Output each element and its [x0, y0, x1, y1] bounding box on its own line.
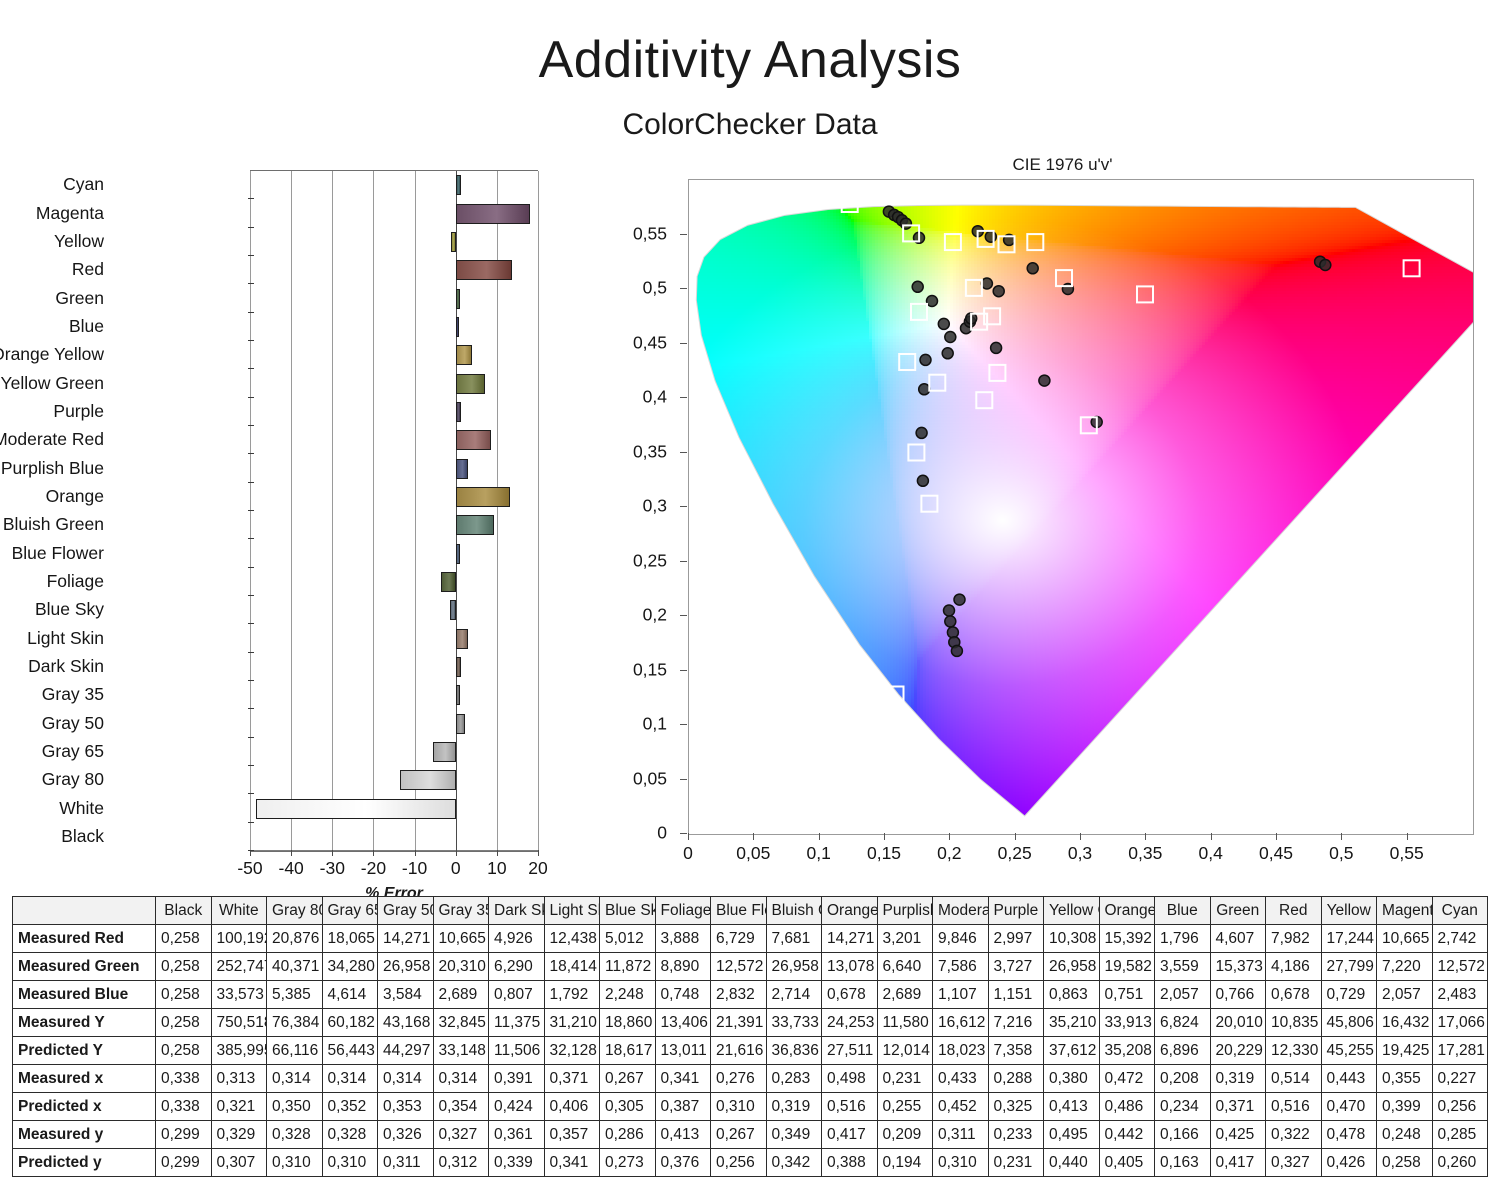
cie-x-tick — [753, 833, 754, 840]
bar-chart-category-label: Yellow — [0, 232, 104, 250]
bar-chart-category-label: White — [0, 799, 104, 817]
bar-chart-bar — [456, 685, 461, 705]
table-cell: 4,186 — [1266, 953, 1322, 981]
table-body: Measured Red0,258100,19220,87618,06514,2… — [13, 925, 1488, 1177]
table-cell: 0,443 — [1321, 1065, 1377, 1093]
table-cell: 7,681 — [766, 925, 822, 953]
table-cell: 4,614 — [322, 981, 378, 1009]
table-column-header: Blue — [1155, 897, 1211, 925]
table-cell: 21,616 — [711, 1037, 767, 1065]
bar-chart-y-tick — [248, 567, 254, 568]
table-cell: 0,341 — [544, 1149, 600, 1177]
table-cell: 0,209 — [877, 1121, 933, 1149]
bar-chart-category-label: Black — [0, 827, 104, 845]
cie-y-tick — [680, 343, 687, 344]
table-cell: 0,322 — [1266, 1121, 1322, 1149]
cie-measured-point — [954, 594, 965, 605]
table-cell: 0,514 — [1266, 1065, 1322, 1093]
table-cell: 43,168 — [378, 1009, 434, 1037]
table-header: BlackWhiteGray 80Gray 65Gray 50Gray 35Da… — [13, 897, 1488, 925]
table-cell: 18,860 — [600, 1009, 656, 1037]
table-cell: 20,876 — [267, 925, 323, 953]
table-cell: 0,233 — [988, 1121, 1044, 1149]
table-row: Measured Red0,258100,19220,87618,06514,2… — [13, 925, 1488, 953]
bar-chart-category-label: Orange Yellow — [0, 345, 104, 363]
table-cell: 0,258 — [156, 1037, 212, 1065]
cie-x-tick — [1080, 833, 1081, 840]
table-cell: 2,689 — [433, 981, 489, 1009]
table-cell: 11,375 — [489, 1009, 545, 1037]
cie-y-tick — [680, 561, 687, 562]
bar-chart-category-label: Purplish Blue — [0, 459, 104, 477]
table-cell: 11,580 — [877, 1009, 933, 1037]
table-cell: 0,256 — [711, 1149, 767, 1177]
bar-chart-category-label: Orange — [0, 487, 104, 505]
table-cell: 2,689 — [877, 981, 933, 1009]
bar-chart-bar — [456, 459, 468, 479]
table-cell: 0,516 — [822, 1093, 878, 1121]
bar-chart-bar — [456, 515, 494, 535]
table-cell: 0,314 — [433, 1065, 489, 1093]
table-cell: 4,607 — [1210, 925, 1266, 953]
table-cell: 16,612 — [933, 1009, 989, 1037]
bar-chart-bar — [441, 572, 455, 592]
table-corner-cell — [13, 897, 156, 925]
table-cell: 0,312 — [433, 1149, 489, 1177]
bar-chart-y-tick — [248, 368, 254, 369]
table-cell: 0,417 — [822, 1121, 878, 1149]
bar-chart-x-tick-label: -50 — [237, 858, 262, 879]
bar-chart-bar — [456, 260, 512, 280]
table-cell: 26,958 — [766, 953, 822, 981]
cie-measured-point — [991, 342, 1002, 353]
table-cell: 0,478 — [1321, 1121, 1377, 1149]
table-cell: 0,413 — [1044, 1093, 1100, 1121]
table-cell: 100,192 — [211, 925, 267, 953]
table-cell: 0,498 — [822, 1065, 878, 1093]
bar-chart-bar — [456, 374, 486, 394]
table-column-header: Gray 65 — [322, 897, 378, 925]
bar-chart-category-label: Gray 50 — [0, 714, 104, 732]
bar-chart-category-label: Dark Skin — [0, 657, 104, 675]
table-cell: 18,617 — [600, 1037, 656, 1065]
table-cell: 31,210 — [544, 1009, 600, 1037]
table-cell: 3,888 — [655, 925, 711, 953]
table-column-header: Bluish Gre — [766, 897, 822, 925]
bar-chart-panel: % Error CyanMagentaYellowRedGreenBlueOra… — [18, 160, 638, 890]
table-cell: 12,572 — [711, 953, 767, 981]
bar-chart-bar — [451, 232, 456, 252]
cie-y-tick-label: 0 — [657, 823, 667, 844]
table-cell: 45,806 — [1321, 1009, 1377, 1037]
cie-x-tick — [819, 833, 820, 840]
table-cell: 8,890 — [655, 953, 711, 981]
bar-chart-bar — [456, 714, 465, 734]
table-row: Predicted x0,3380,3210,3500,3520,3530,35… — [13, 1093, 1488, 1121]
bar-chart-gridline — [373, 171, 374, 851]
table-cell: 34,280 — [322, 953, 378, 981]
bar-chart-category-label: Gray 80 — [0, 770, 104, 788]
table-cell: 76,384 — [267, 1009, 323, 1037]
bar-chart-x-tick-label: -20 — [361, 858, 386, 879]
bar-chart-category-label: Foliage — [0, 572, 104, 590]
cie-y-tick — [680, 506, 687, 507]
table-cell: 0,349 — [766, 1121, 822, 1149]
bar-chart-bar — [456, 345, 472, 365]
table-cell: 27,511 — [822, 1037, 878, 1065]
table-header-row: BlackWhiteGray 80Gray 65Gray 50Gray 35Da… — [13, 897, 1488, 925]
table-cell: 32,128 — [544, 1037, 600, 1065]
bar-chart-x-tick-label: 10 — [487, 858, 506, 879]
cie-x-tick — [1015, 833, 1016, 840]
table-cell: 37,612 — [1044, 1037, 1100, 1065]
bar-chart-x-tick — [332, 850, 333, 856]
bar-chart-bar — [400, 770, 456, 790]
table-cell: 0,355 — [1377, 1065, 1433, 1093]
table-column-header: Moderate — [933, 897, 989, 925]
bar-chart-y-tick — [248, 595, 254, 596]
bar-chart-bar — [456, 289, 461, 309]
table-cell: 7,982 — [1266, 925, 1322, 953]
table-cell: 0,311 — [378, 1149, 434, 1177]
table-cell: 20,310 — [433, 953, 489, 981]
table-cell: 6,824 — [1155, 1009, 1211, 1037]
table-cell: 0,327 — [433, 1121, 489, 1149]
table-cell: 0,516 — [1266, 1093, 1322, 1121]
table-cell: 16,432 — [1377, 1009, 1433, 1037]
table-cell: 0,354 — [433, 1093, 489, 1121]
cie-y-tick — [680, 724, 687, 725]
table-cell: 9,846 — [933, 925, 989, 953]
table-cell: 3,727 — [988, 953, 1044, 981]
table-column-header: Purplish Bl — [877, 897, 933, 925]
bar-chart-category-label: Cyan — [0, 175, 104, 193]
bar-chart-x-tick — [373, 850, 374, 856]
table-cell: 0,325 — [988, 1093, 1044, 1121]
table-cell: 7,216 — [988, 1009, 1044, 1037]
table-cell: 0,341 — [655, 1065, 711, 1093]
table-cell: 0,310 — [933, 1149, 989, 1177]
table-row-label: Predicted y — [13, 1149, 156, 1177]
bar-chart-y-tick — [248, 453, 254, 454]
table-cell: 0,361 — [489, 1121, 545, 1149]
cie-y-tick — [680, 670, 687, 671]
table-column-header: Gray 35 — [433, 897, 489, 925]
bar-chart-gridline — [415, 171, 416, 851]
bar-chart-y-tick — [248, 737, 254, 738]
table-cell: 0,442 — [1099, 1121, 1155, 1149]
page-title: Additivity Analysis — [0, 30, 1500, 90]
cie-x-tick-label: 0,25 — [998, 843, 1032, 864]
bar-chart-gridline — [291, 171, 292, 851]
table-cell: 14,271 — [822, 925, 878, 953]
table-cell: 0,376 — [655, 1149, 711, 1177]
bar-chart-gridline — [332, 171, 333, 851]
table-cell: 36,836 — [766, 1037, 822, 1065]
table-cell: 0,380 — [1044, 1065, 1100, 1093]
table-cell: 0,285 — [1432, 1121, 1488, 1149]
table-cell: 12,330 — [1266, 1037, 1322, 1065]
cie-y-tick — [680, 615, 687, 616]
cie-measured-point — [1039, 375, 1050, 386]
table-column-header: Yellow Gre — [1044, 897, 1100, 925]
table-cell: 252,747 — [211, 953, 267, 981]
table-cell: 0,328 — [267, 1121, 323, 1149]
table-cell: 0,166 — [1155, 1121, 1211, 1149]
bar-chart-y-tick — [248, 397, 254, 398]
table-cell: 0,248 — [1377, 1121, 1433, 1149]
table-cell: 10,665 — [1377, 925, 1433, 953]
table-cell: 0,258 — [156, 981, 212, 1009]
colorchecker-data-table: BlackWhiteGray 80Gray 65Gray 50Gray 35Da… — [12, 896, 1488, 1177]
table-cell: 10,308 — [1044, 925, 1100, 953]
table-column-header: Orange Ye — [1099, 897, 1155, 925]
table-cell: 0,388 — [822, 1149, 878, 1177]
table-row-label: Measured Red — [13, 925, 156, 953]
bar-chart-x-tick — [456, 850, 457, 856]
cie-measured-point — [1027, 263, 1038, 274]
cie-y-tick-label: 0,55 — [633, 223, 667, 244]
table-cell: 17,281 — [1432, 1037, 1488, 1065]
table-cell: 6,640 — [877, 953, 933, 981]
cie-measured-point — [945, 616, 956, 627]
table-cell: 18,414 — [544, 953, 600, 981]
cie-measured-point — [944, 605, 955, 616]
table-cell: 33,148 — [433, 1037, 489, 1065]
table-cell: 17,244 — [1321, 925, 1377, 953]
bar-chart-bar — [456, 487, 510, 507]
cie-measured-point — [900, 218, 911, 229]
table-cell: 13,078 — [822, 953, 878, 981]
cie-measured-point — [917, 475, 928, 486]
table-cell: 0,748 — [655, 981, 711, 1009]
cie-chart-panel: CIE 1976 u'v' 00,050,10,150,20,250,30,35… — [640, 155, 1485, 890]
bar-chart-y-tick — [248, 255, 254, 256]
table-cell: 0,260 — [1432, 1149, 1488, 1177]
bar-chart-category-label: Blue Flower — [0, 544, 104, 562]
table-cell: 0,258 — [156, 1009, 212, 1037]
table-cell: 0,417 — [1210, 1149, 1266, 1177]
table-cell: 44,297 — [378, 1037, 434, 1065]
cie-x-tick-label: 0,05 — [736, 843, 770, 864]
bar-chart-y-tick — [248, 312, 254, 313]
bar-chart-bar — [256, 799, 456, 819]
table-cell: 11,506 — [489, 1037, 545, 1065]
table-cell: 0,338 — [156, 1093, 212, 1121]
cie-x-tick-label: 0 — [683, 843, 693, 864]
bar-chart-bar — [456, 544, 461, 564]
table-cell: 0,357 — [544, 1121, 600, 1149]
table-cell: 0,234 — [1155, 1093, 1211, 1121]
bar-chart-x-tick — [415, 850, 416, 856]
table-cell: 0,433 — [933, 1065, 989, 1093]
table-cell: 21,391 — [711, 1009, 767, 1037]
bar-chart-category-label: Red — [0, 260, 104, 278]
bar-chart-bar — [456, 629, 468, 649]
cie-y-tick — [680, 779, 687, 780]
bar-chart-y-tick — [248, 425, 254, 426]
cie-measured-point — [927, 296, 938, 307]
cie-measured-point — [916, 427, 927, 438]
table-cell: 35,210 — [1044, 1009, 1100, 1037]
bar-chart-y-tick — [248, 198, 254, 199]
cie-y-tick-label: 0,45 — [633, 332, 667, 353]
table-cell: 40,371 — [267, 953, 323, 981]
table-cell: 0,255 — [877, 1093, 933, 1121]
table-cell: 385,995 — [211, 1037, 267, 1065]
table-cell: 0,299 — [156, 1121, 212, 1149]
bar-chart-gridline — [538, 171, 539, 851]
table-cell: 0,314 — [267, 1065, 323, 1093]
bar-chart-x-tick-label: -10 — [402, 858, 427, 879]
bar-chart-plot-area — [250, 170, 538, 852]
table-row-label: Measured Green — [13, 953, 156, 981]
table-cell: 0,231 — [988, 1149, 1044, 1177]
table-cell: 0,399 — [1377, 1093, 1433, 1121]
table-cell: 10,665 — [433, 925, 489, 953]
bar-chart-category-label: Green — [0, 289, 104, 307]
table-cell: 3,201 — [877, 925, 933, 953]
bar-chart-x-tick — [538, 850, 539, 856]
table-row-label: Predicted Y — [13, 1037, 156, 1065]
table-cell: 19,582 — [1099, 953, 1155, 981]
table-cell: 5,012 — [600, 925, 656, 953]
table-cell: 2,057 — [1377, 981, 1433, 1009]
cie-x-tick — [1341, 833, 1342, 840]
table-cell: 33,573 — [211, 981, 267, 1009]
cie-measured-point — [981, 278, 992, 289]
table-row: Measured x0,3380,3130,3140,3140,3140,314… — [13, 1065, 1488, 1093]
table-cell: 0,305 — [600, 1093, 656, 1121]
cie-x-tick-label: 0,5 — [1329, 843, 1353, 864]
table-row: Predicted Y0,258385,99566,11656,44344,29… — [13, 1037, 1488, 1065]
table-cell: 1,796 — [1155, 925, 1211, 953]
bar-chart-bar — [456, 204, 530, 224]
bar-chart-y-tick — [248, 538, 254, 539]
table-cell: 7,358 — [988, 1037, 1044, 1065]
table-column-header: Magenta — [1377, 897, 1433, 925]
table-cell: 0,339 — [489, 1149, 545, 1177]
cie-y-tick — [680, 833, 687, 834]
table-row-label: Measured Y — [13, 1009, 156, 1037]
table-cell: 1,792 — [544, 981, 600, 1009]
table-cell: 0,440 — [1044, 1149, 1100, 1177]
bar-chart-y-tick — [248, 793, 254, 794]
table-cell: 2,057 — [1155, 981, 1211, 1009]
bar-chart-x-tick — [291, 850, 292, 856]
table-cell: 0,311 — [933, 1121, 989, 1149]
table-cell: 12,014 — [877, 1037, 933, 1065]
table-cell: 0,678 — [1266, 981, 1322, 1009]
table-cell: 17,066 — [1432, 1009, 1488, 1037]
cie-x-tick-label: 0,35 — [1128, 843, 1162, 864]
table-cell: 35,208 — [1099, 1037, 1155, 1065]
cie-x-tick-label: 0,15 — [867, 843, 901, 864]
table-cell: 0,326 — [378, 1121, 434, 1149]
table-cell: 19,425 — [1377, 1037, 1433, 1065]
bar-chart-bar — [456, 175, 461, 195]
bar-chart-bar — [456, 430, 491, 450]
cie-chart-plot-area — [688, 179, 1474, 835]
table-cell: 0,807 — [489, 981, 545, 1009]
table-column-header: Orange — [822, 897, 878, 925]
cie-measured-point — [985, 231, 996, 242]
bar-chart-gridline — [250, 171, 251, 851]
table-cell: 0,406 — [544, 1093, 600, 1121]
cie-measured-point — [912, 281, 923, 292]
table-cell: 20,229 — [1210, 1037, 1266, 1065]
bar-chart-y-tick — [248, 680, 254, 681]
table-cell: 3,584 — [378, 981, 434, 1009]
cie-measured-point — [938, 318, 949, 329]
bar-chart-category-label: Yellow Green — [0, 374, 104, 392]
table-row-label: Measured y — [13, 1121, 156, 1149]
table-cell: 12,572 — [1432, 953, 1488, 981]
table-column-header: White — [211, 897, 267, 925]
table-cell: 0,371 — [1210, 1093, 1266, 1121]
cie-measured-point — [942, 348, 953, 359]
table-cell: 6,290 — [489, 953, 545, 981]
table-cell: 18,065 — [322, 925, 378, 953]
table-cell: 4,926 — [489, 925, 545, 953]
cie-y-tick — [680, 397, 687, 398]
table-row: Predicted y0,2990,3070,3100,3100,3110,31… — [13, 1149, 1488, 1177]
bar-chart-y-tick — [248, 850, 254, 851]
bar-chart-category-label: Gray 35 — [0, 685, 104, 703]
table-cell: 0,319 — [766, 1093, 822, 1121]
table-cell: 0,470 — [1321, 1093, 1377, 1121]
bar-chart-category-label: Gray 65 — [0, 742, 104, 760]
table-cell: 0,426 — [1321, 1149, 1377, 1177]
table-cell: 0,391 — [489, 1065, 545, 1093]
cie-x-tick-label: 0,2 — [937, 843, 961, 864]
bar-chart-x-tick-label: 0 — [451, 858, 461, 879]
table-cell: 2,248 — [600, 981, 656, 1009]
table-row-label: Predicted x — [13, 1093, 156, 1121]
bar-chart-x-tick-label: 20 — [528, 858, 547, 879]
cie-gamut-svg — [689, 180, 1473, 834]
table-row-label: Measured x — [13, 1065, 156, 1093]
table-cell: 0,163 — [1155, 1149, 1211, 1177]
table-cell: 0,276 — [711, 1065, 767, 1093]
table-cell: 0,299 — [156, 1149, 212, 1177]
cie-y-tick-label: 0,15 — [633, 659, 667, 680]
table-cell: 0,729 — [1321, 981, 1377, 1009]
table-cell: 14,271 — [378, 925, 434, 953]
cie-x-tick — [1407, 833, 1408, 840]
table-cell: 33,733 — [766, 1009, 822, 1037]
table-cell: 12,438 — [544, 925, 600, 953]
bar-chart-y-tick — [248, 340, 254, 341]
table-cell: 18,023 — [933, 1037, 989, 1065]
table-cell: 27,799 — [1321, 953, 1377, 981]
table-cell: 0,472 — [1099, 1065, 1155, 1093]
table-column-header: Dark Skin — [489, 897, 545, 925]
table-cell: 6,896 — [1155, 1037, 1211, 1065]
bar-chart-bar — [450, 600, 456, 620]
table-column-header: Yellow — [1321, 897, 1377, 925]
table-cell: 2,483 — [1432, 981, 1488, 1009]
table-column-header: Gray 80 — [267, 897, 323, 925]
table-cell: 0,258 — [1377, 1149, 1433, 1177]
cie-x-tick-label: 0,3 — [1068, 843, 1092, 864]
cie-y-tick-label: 0,3 — [643, 496, 667, 517]
bar-chart-category-label: Blue Sky — [0, 600, 104, 618]
bar-chart-category-label: Bluish Green — [0, 515, 104, 533]
bar-chart-category-label: Magenta — [0, 204, 104, 222]
cie-y-tick-label: 0,4 — [643, 387, 667, 408]
table-cell: 0,310 — [322, 1149, 378, 1177]
